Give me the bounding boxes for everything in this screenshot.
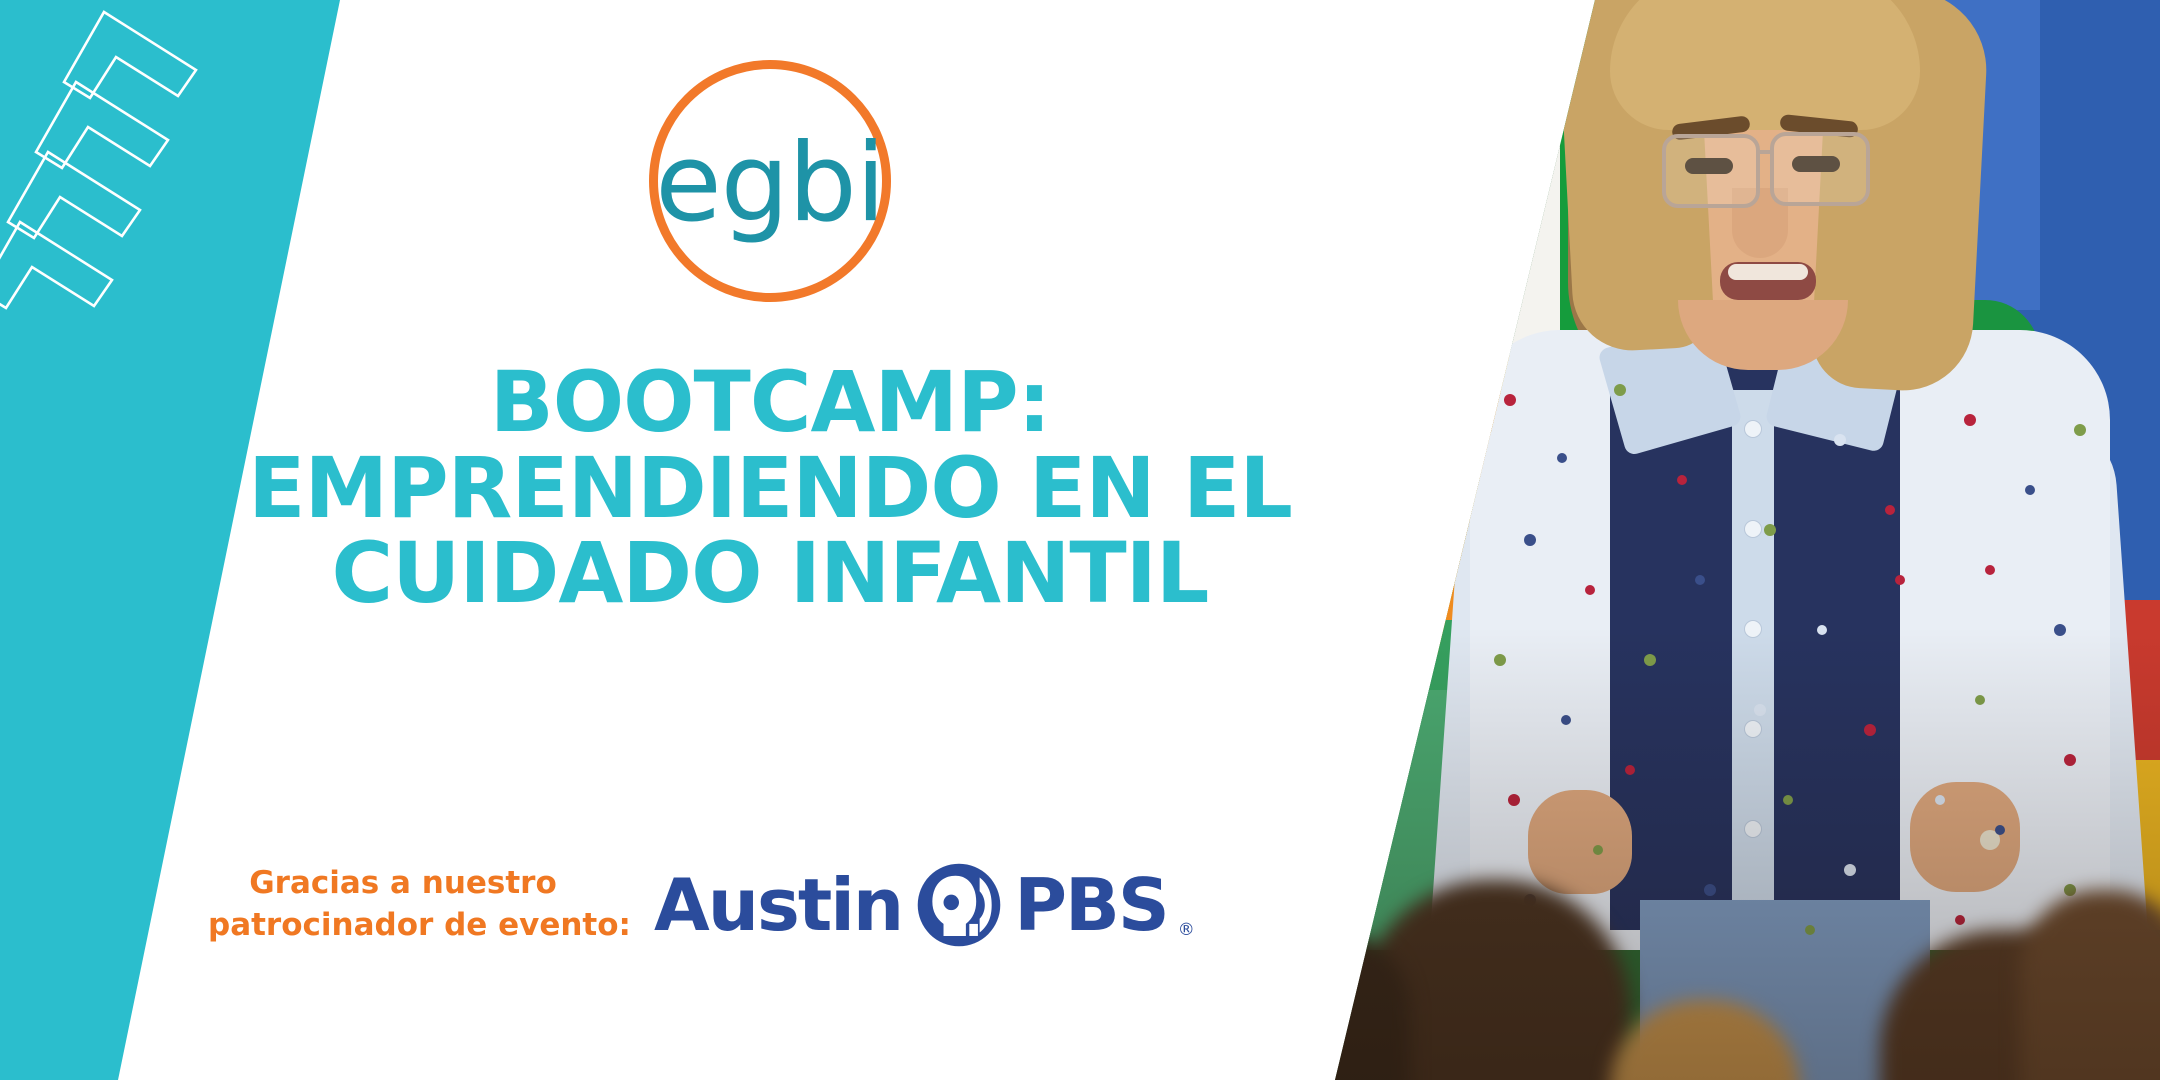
egbi-logo: egbi [649,60,891,302]
headline-line-1: BOOTCAMP: [210,360,1330,446]
banner-content: egbi BOOTCAMP: EMPRENDIENDO EN EL CUIDAD… [180,0,1360,1080]
sponsor-label: Gracias a nuestro patrocinador de evento… [208,863,598,947]
austin-pbs-wordmark-pbs: PBS [1014,869,1168,941]
event-photo [1280,0,2160,1080]
austin-pbs-wordmark-austin: Austin [654,869,902,941]
event-banner: egbi BOOTCAMP: EMPRENDIENDO EN EL CUIDAD… [0,0,2160,1080]
headline-line-2: EMPRENDIENDO EN EL [210,446,1330,532]
headline-line-3: CUIDADO INFANTIL [210,531,1330,617]
registered-trademark-icon: ® [1178,920,1195,940]
pbs-head-icon [916,862,1002,948]
egbi-logo-text: egbi [655,130,885,238]
page-title: BOOTCAMP: EMPRENDIENDO EN EL CUIDADO INF… [210,360,1330,617]
austin-pbs-logo: Austin PBS ® [654,862,1195,948]
sponsor-label-line-1: Gracias a nuestro [208,863,598,905]
sponsor-label-line-2: patrocinador de evento: [208,905,598,947]
sponsor-section: Gracias a nuestro patrocinador de evento… [180,862,1360,948]
